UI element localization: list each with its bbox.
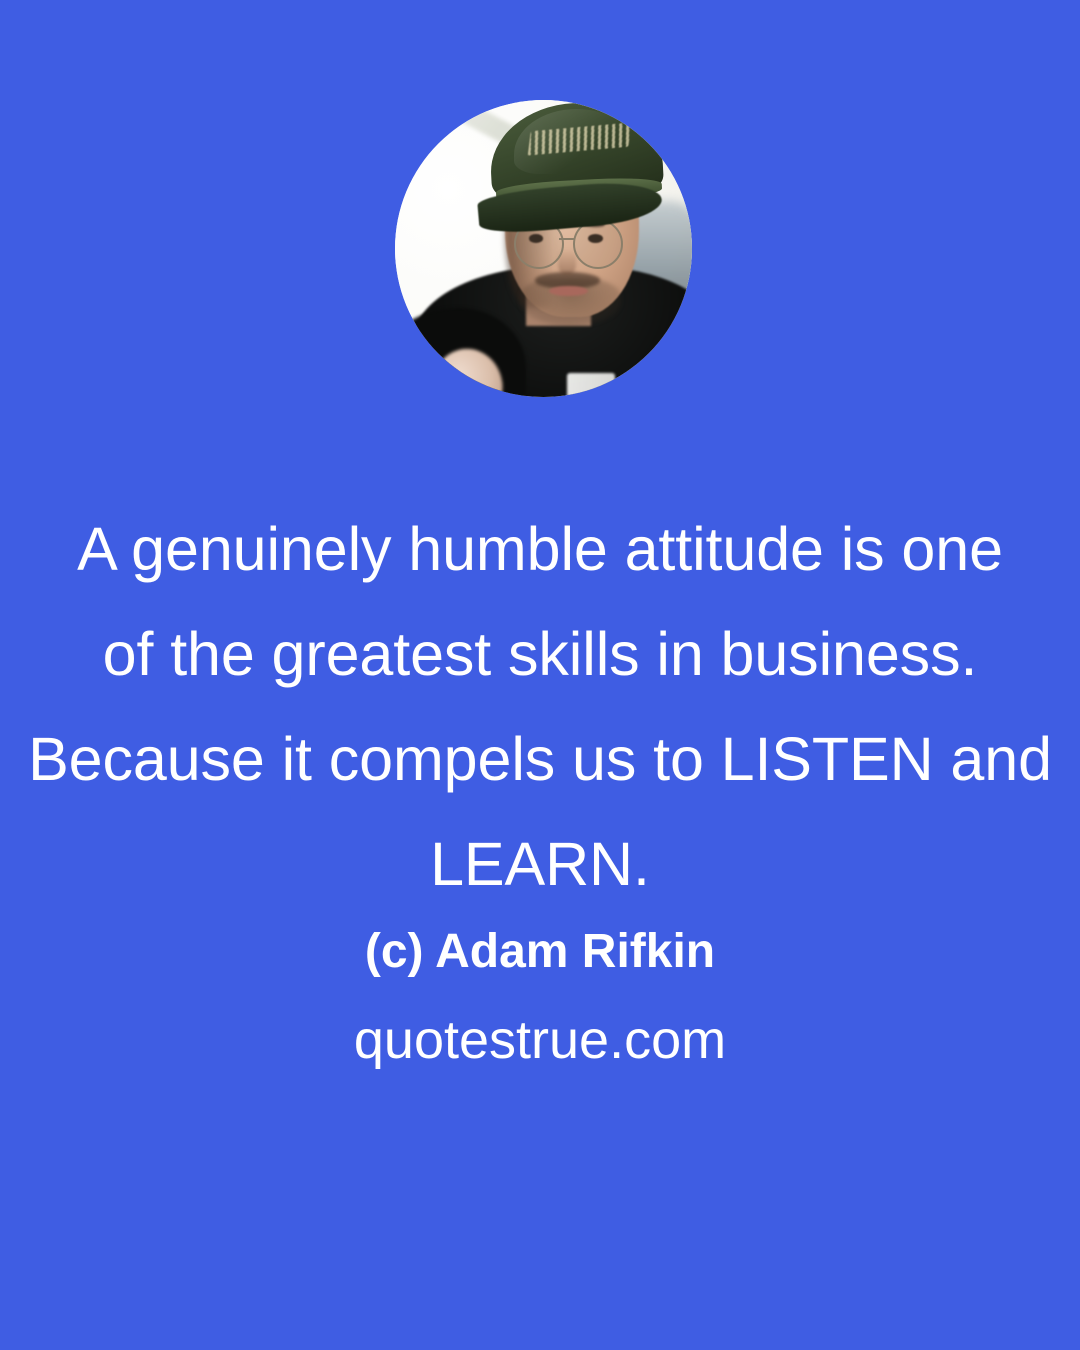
- portrait-glasses-bridge: [559, 238, 574, 240]
- quote-line-4: LEARN.: [0, 812, 1080, 917]
- quote-line-2: of the greatest skills in business.: [0, 602, 1080, 707]
- quote-card: A genuinely humble attitude is one of th…: [0, 0, 1080, 1350]
- website-credit: quotestrue.com: [0, 1006, 1080, 1074]
- quote-line-1: A genuinely humble attitude is one: [0, 497, 1080, 602]
- portrait-shirt-graphic: [567, 373, 615, 397]
- quote-text: A genuinely humble attitude is one of th…: [0, 497, 1080, 917]
- author-portrait: [395, 100, 692, 397]
- quote-attribution: (c) Adam Rifkin: [0, 922, 1080, 982]
- quote-line-3: Because it compels us to LISTEN and: [0, 707, 1080, 812]
